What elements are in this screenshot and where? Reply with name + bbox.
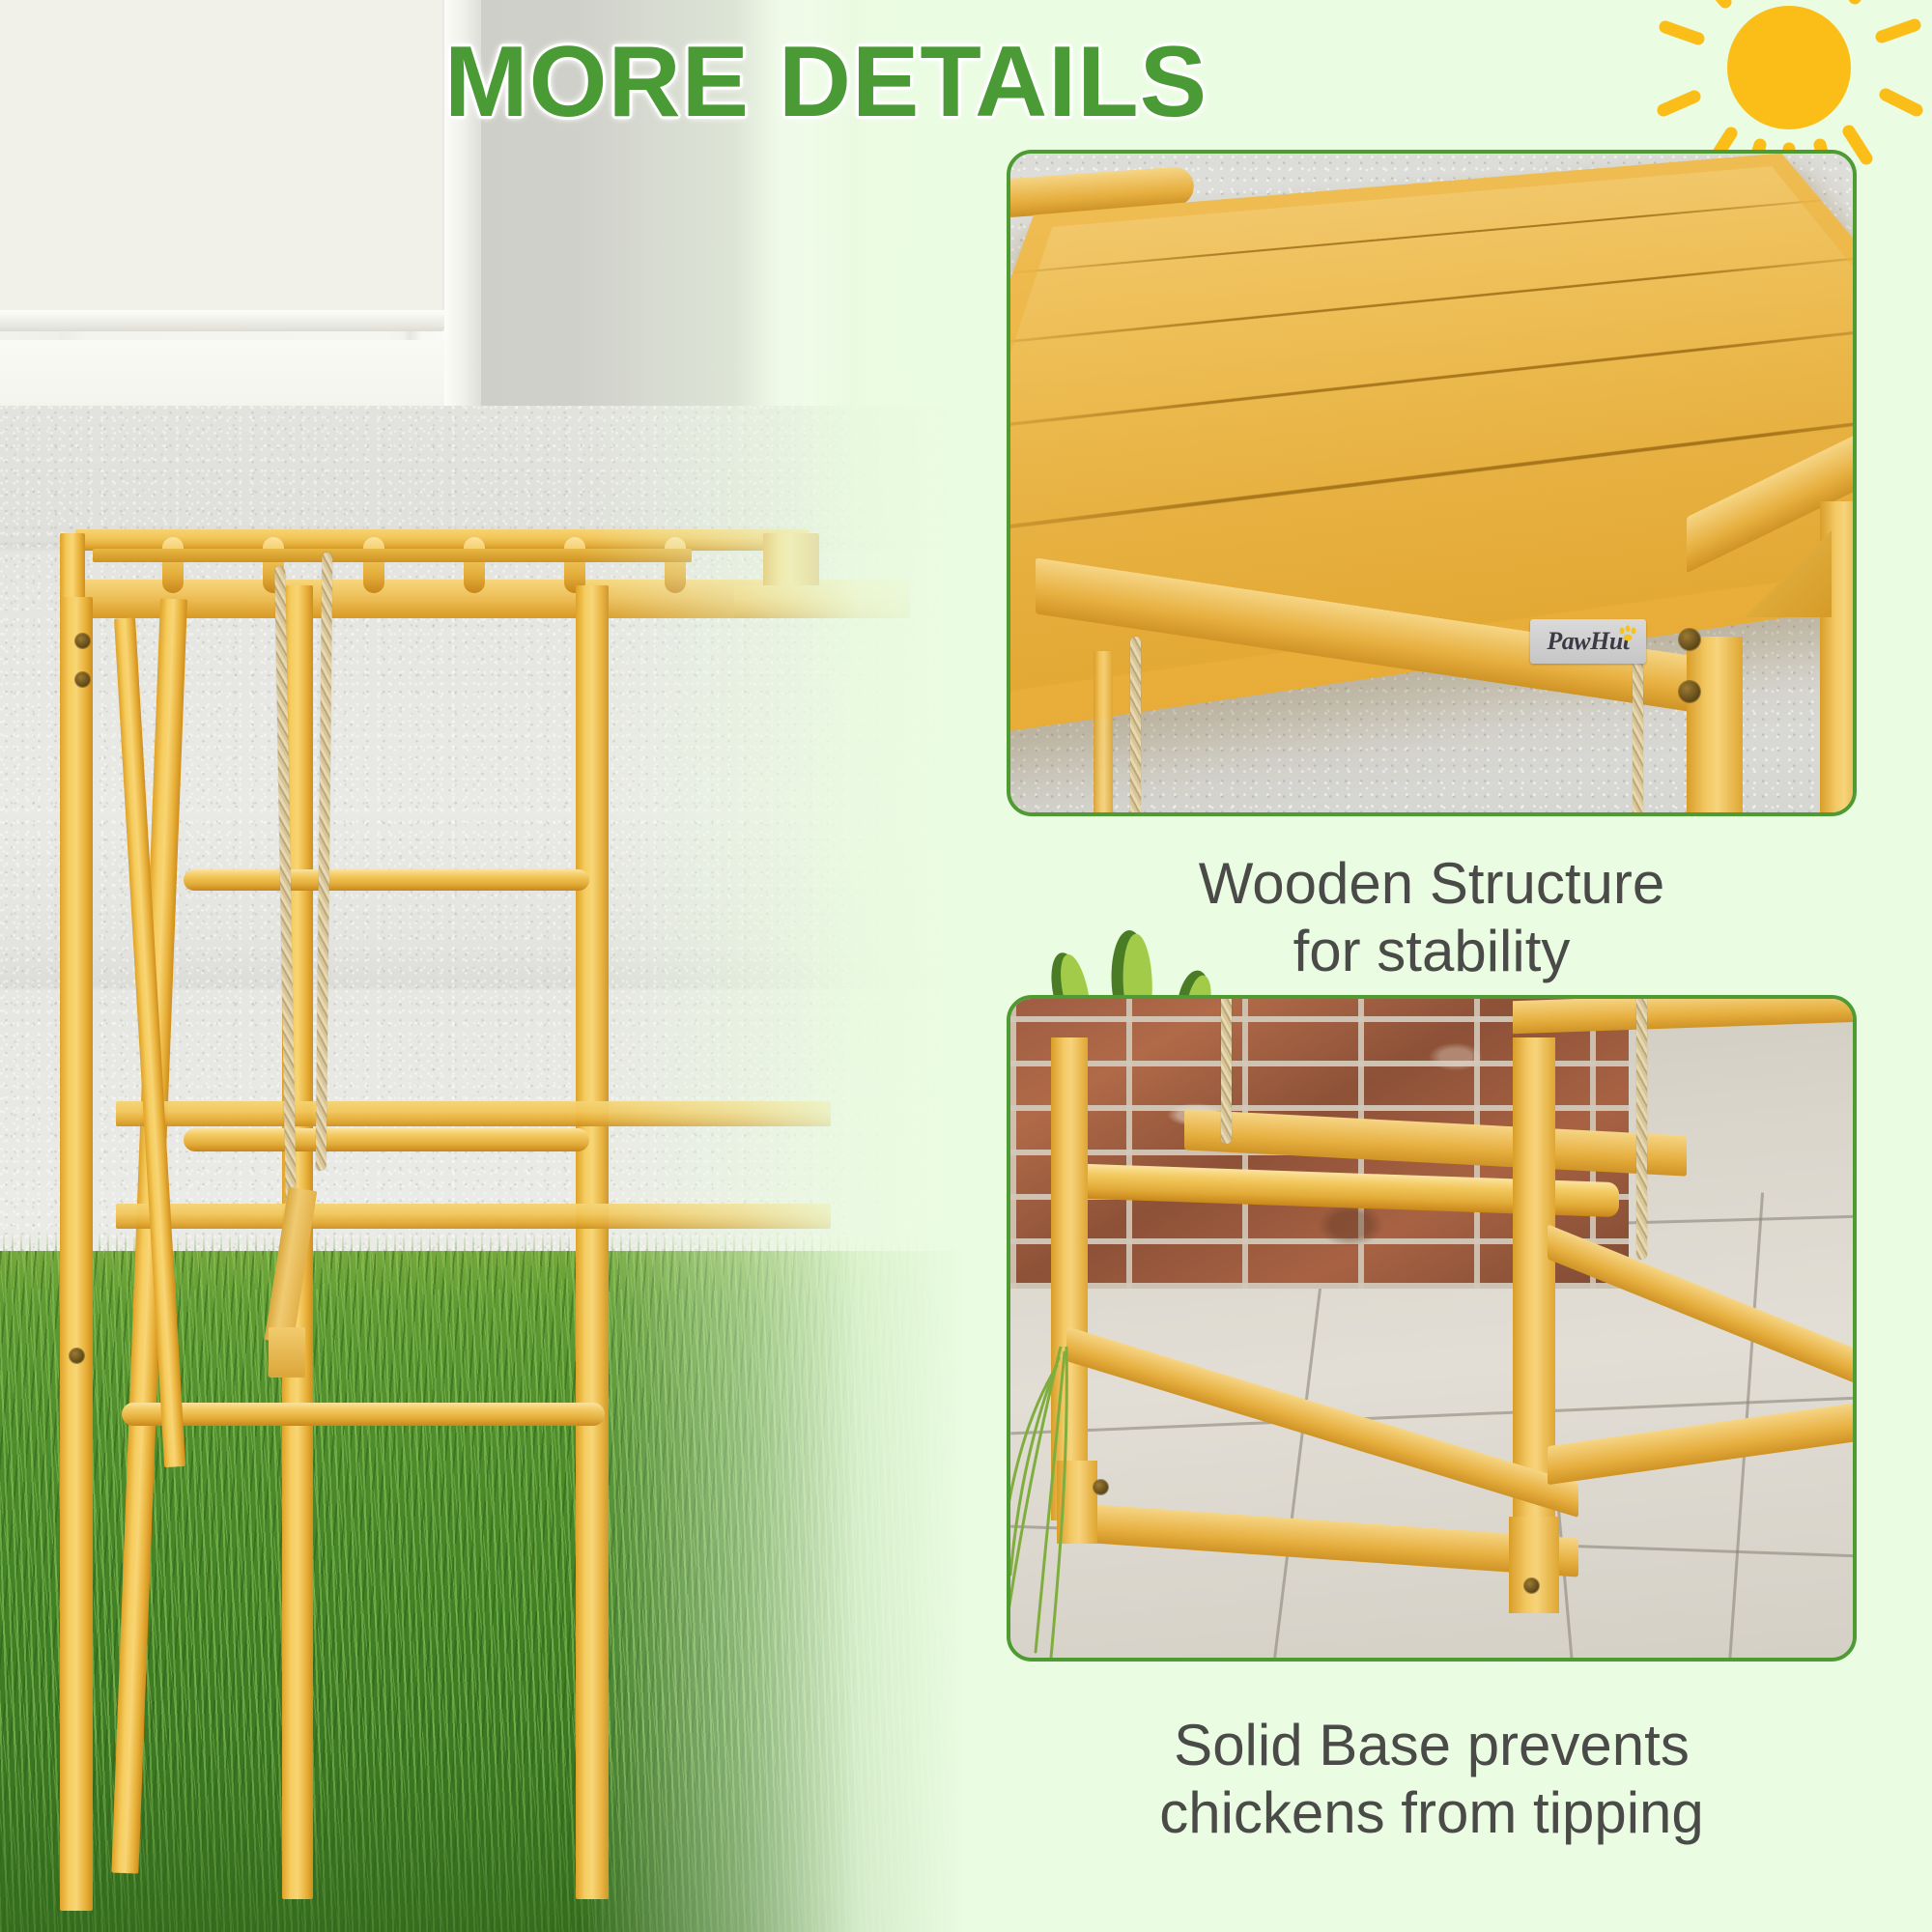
rope-left [1130,637,1141,816]
caption-line-1: Wooden Structure [968,850,1895,918]
table-leg-left [1094,651,1113,816]
pawhut-logo-label: PawHut [1530,619,1646,664]
grass-tuft-icon [1007,1347,1136,1662]
table-leg-front [1687,637,1743,816]
infographic-canvas: MORE DETAILS [0,0,1932,1932]
hero-scene [0,0,966,1932]
pawhut-logo-text: PawHut [1547,627,1629,656]
caption-line-2: chickens from tipping [968,1779,1895,1847]
screw-upper [1679,629,1700,650]
feature-photo-wooden-structure: PawHut [1007,150,1857,816]
feature-caption-solid-base: Solid Base prevents chickens from tippin… [968,1712,1895,1847]
caption-line-1: Solid Base prevents [968,1712,1895,1779]
screw-lower [1679,681,1700,702]
main-product-photo [0,0,966,1932]
paw-print-icon [1618,625,1639,642]
page-title: MORE DETAILS [444,27,1314,138]
door-panel-upper [0,0,444,314]
feature-photo-solid-base [1007,995,1857,1662]
